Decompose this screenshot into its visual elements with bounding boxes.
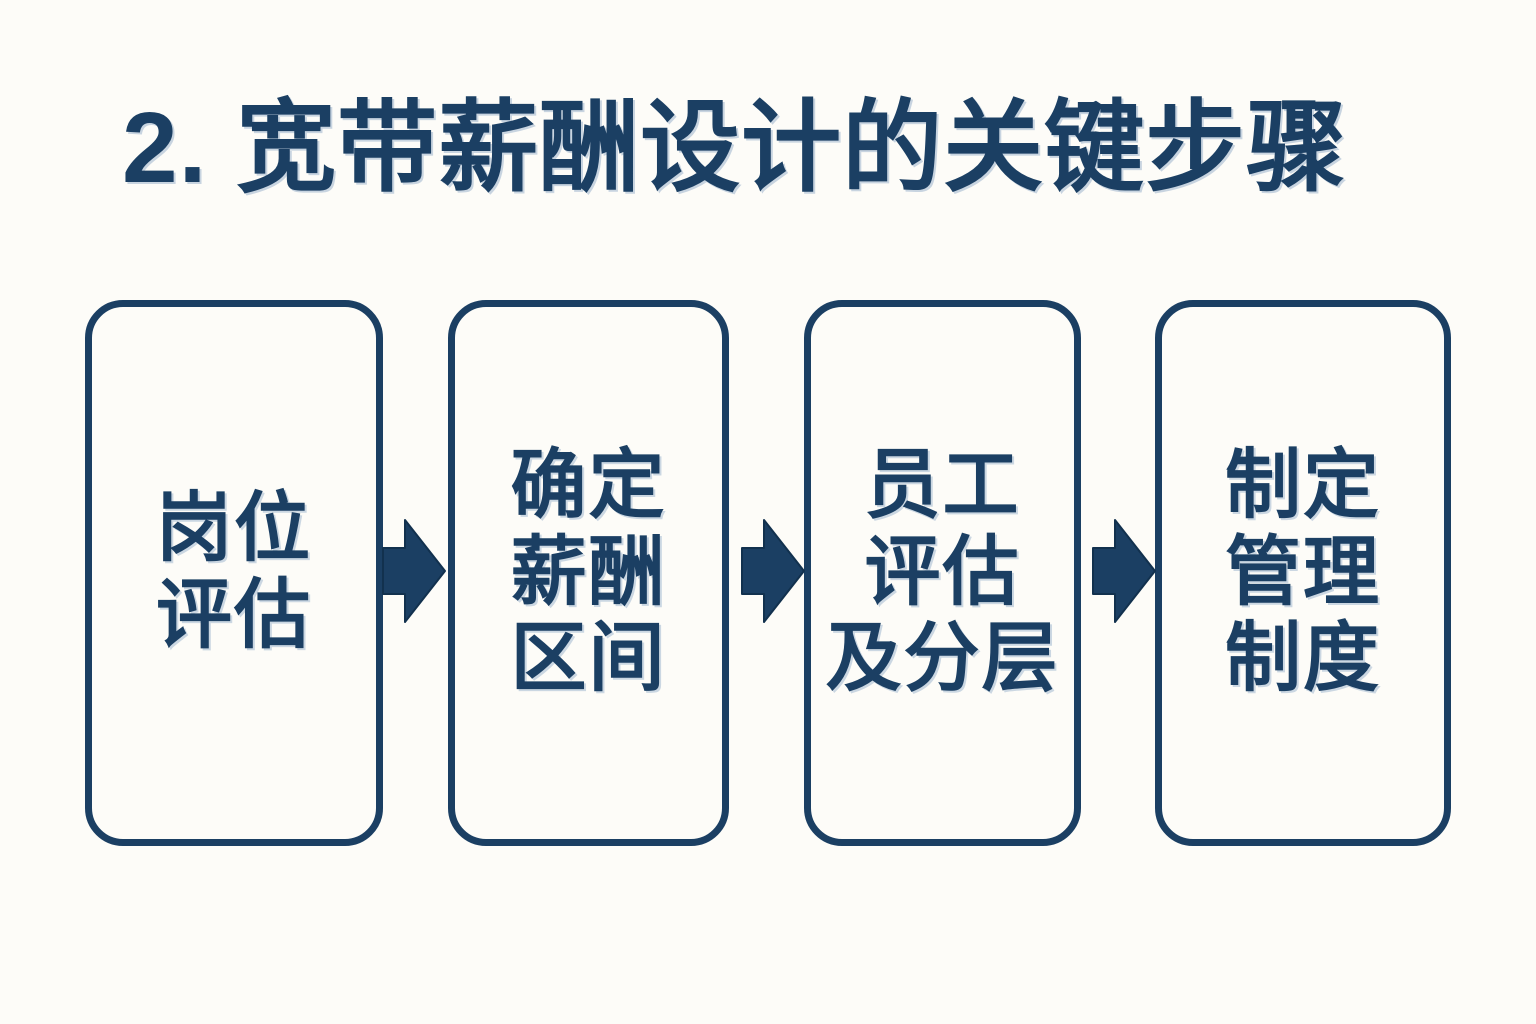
flow-step-box-1[interactable]: 岗位 评估 <box>85 300 383 846</box>
flow-step-1-line-1: 岗位 <box>156 486 312 573</box>
flow-step-3-line-3: 及分层 <box>826 616 1060 703</box>
flow-step-1-line-2: 评估 <box>156 573 312 660</box>
flow-step-2-line-2: 薪酬 <box>511 530 667 617</box>
arrow-right-icon <box>738 518 806 624</box>
flow-step-2-line-3: 区间 <box>511 616 667 703</box>
slide-canvas: 2. 宽带薪酬设计的关键步骤 岗位 评估 确定 薪酬 区间 员工 <box>0 0 1536 1024</box>
flow-step-box-2[interactable]: 确定 薪酬 区间 <box>448 300 729 846</box>
arrow-right-icon <box>1089 518 1157 624</box>
arrow-right-icon <box>379 518 447 624</box>
flow-step-3-line-1: 员工 <box>865 443 1021 530</box>
flow-step-box-3[interactable]: 员工 评估 及分层 <box>804 300 1081 846</box>
flow-step-box-4[interactable]: 制定 管理 制度 <box>1155 300 1451 846</box>
process-flow-diagram: 岗位 评估 确定 薪酬 区间 员工 评估 及分层 <box>0 0 1536 1024</box>
flow-step-4-line-3: 制度 <box>1225 616 1381 703</box>
flow-step-2-line-1: 确定 <box>511 443 667 530</box>
flow-step-4-line-2: 管理 <box>1225 530 1381 617</box>
flow-step-3-line-2: 评估 <box>865 530 1021 617</box>
flow-step-4-line-1: 制定 <box>1225 443 1381 530</box>
